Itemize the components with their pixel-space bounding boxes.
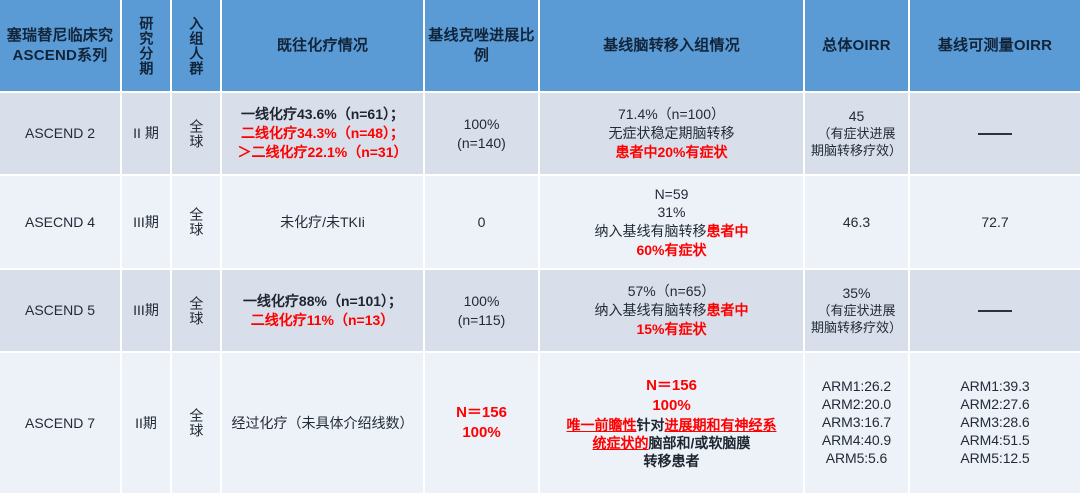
brain-line-4-black: 脑部和/或软脑膜 (649, 435, 751, 451)
table-row: ASCEND 7 II期 全球 经过化疗（未具体介绍线数） N＝156 100%… (0, 353, 1080, 495)
brain-line-3-red-underline: 唯一前瞻性 (567, 417, 637, 433)
brain-line-1: 71.4%（n=100） (544, 105, 799, 124)
brain-line-3: 纳入基线有脑转移患者中 (544, 222, 799, 241)
oirr-arm-3: ARM3:16.7 (809, 414, 904, 432)
cell-population: 全球 (172, 176, 222, 270)
em-dash-icon (978, 133, 1012, 135)
brain-line-3-black: 纳入基线有脑转移 (595, 223, 707, 239)
cell-overall-oirr: 35% （有症状进展 期脑转移疗效） (805, 270, 910, 353)
chemo-line-1: 一线化疗43.6%（n=61）； (226, 105, 419, 124)
table-row: ASECND 4 III期 全球 未化疗/未TKIi 0 N=59 31% 纳入… (0, 176, 1080, 270)
crizo-line-2: 100% (429, 423, 534, 443)
measurable-arm-1: ARM1:39.3 (914, 378, 1076, 396)
brain-line-1: N＝156 (544, 376, 799, 396)
cell-study-name: ASECND 4 (0, 176, 122, 270)
brain-line-3: 15%有症状 (544, 320, 799, 339)
oirr-note-1: （有症状进展 (809, 303, 904, 320)
oirr-value: 46.3 (809, 213, 904, 232)
crizo-line-1: N＝156 (429, 403, 534, 423)
cell-study-name: ASCEND 7 (0, 353, 122, 495)
brain-line-3-black: 针对 (637, 417, 665, 433)
oirr-arm-5: ARM5:5.6 (809, 450, 904, 468)
oirr-note-2: 期脑转移疗效） (809, 143, 904, 160)
oirr-note-1: （有症状进展 (809, 126, 904, 143)
cell-measurable-oirr: 72.7 (910, 176, 1080, 270)
brain-line-4-red-underline: 统症状的 (593, 435, 649, 451)
cell-measurable-oirr (910, 93, 1080, 176)
header-cell-brain-metastasis: 基线脑转移入组情况 (540, 0, 805, 93)
chemo-line-1: 经过化疗（未具体介绍线数） (226, 414, 419, 433)
cell-overall-oirr: ARM1:26.2 ARM2:20.0 ARM3:16.7 ARM4:40.9 … (805, 353, 910, 495)
cell-prior-chemo: 一线化疗43.6%（n=61）； 二线化疗34.3%（n=48）； ＞二线化疗2… (222, 93, 425, 176)
brain-line-2-red: 患者中 (707, 302, 749, 318)
chemo-line-3: ＞二线化疗22.1%（n=31） (226, 143, 419, 162)
header-cell-crizotinib-progression: 基线克唑进展比例 (425, 0, 540, 93)
crizo-line-1: 0 (429, 213, 534, 232)
brain-line-2: 无症状稳定期脑转移 (544, 124, 799, 143)
cell-crizotinib-progression: 100% (n=140) (425, 93, 540, 176)
crizo-line-2: (n=140) (429, 134, 534, 153)
oirr-arm-2: ARM2:20.0 (809, 396, 904, 414)
crizo-line-1: 100% (429, 292, 534, 311)
crizo-line-2: (n=115) (429, 311, 534, 330)
brain-line-5: 转移患者 (544, 452, 799, 470)
cell-overall-oirr: 45 （有症状进展 期脑转移疗效） (805, 93, 910, 176)
chemo-line-2: 二线化疗34.3%（n=48）； (226, 124, 419, 143)
table-row: ASCEND 2 II 期 全球 一线化疗43.6%（n=61）； 二线化疗34… (0, 93, 1080, 176)
cell-study-phase: III期 (122, 270, 172, 353)
measurable-arm-3: ARM3:28.6 (914, 414, 1076, 432)
brain-line-4: 60%有症状 (544, 241, 799, 260)
measurable-oirr-value: 72.7 (914, 213, 1076, 232)
brain-line-2: 31% (544, 203, 799, 222)
cell-study-name: ASCEND 5 (0, 270, 122, 353)
brain-line-2: 100% (544, 396, 799, 416)
brain-line-3: 唯一前瞻性针对进展期和有神经系 (544, 416, 799, 434)
cell-brain-metastasis: N=59 31% 纳入基线有脑转移患者中 60%有症状 (540, 176, 805, 270)
brain-line-2: 纳入基线有脑转移患者中 (544, 301, 799, 320)
oirr-value: 45 (809, 107, 904, 126)
measurable-arm-4: ARM4:51.5 (914, 432, 1076, 450)
cell-study-phase: II 期 (122, 93, 172, 176)
brain-line-2-black: 纳入基线有脑转移 (595, 302, 707, 318)
cell-study-name: ASCEND 2 (0, 93, 122, 176)
cell-measurable-oirr: ARM1:39.3 ARM2:27.6 ARM3:28.6 ARM4:51.5 … (910, 353, 1080, 495)
cell-brain-metastasis: N＝156 100% 唯一前瞻性针对进展期和有神经系 统症状的脑部和/或软脑膜 … (540, 353, 805, 495)
cell-study-phase: II期 (122, 353, 172, 495)
cell-crizotinib-progression: N＝156 100% (425, 353, 540, 495)
cell-population: 全球 (172, 93, 222, 176)
header-cell-measurable-oirr: 基线可测量OIRR (910, 0, 1080, 93)
cell-study-phase: III期 (122, 176, 172, 270)
oirr-arm-1: ARM1:26.2 (809, 378, 904, 396)
cell-brain-metastasis: 57%（n=65） 纳入基线有脑转移患者中 15%有症状 (540, 270, 805, 353)
oirr-value: 35% (809, 284, 904, 303)
header-cell-study: 塞瑞替尼临床究ASCEND系列 (0, 0, 122, 93)
chemo-line-2: 二线化疗11%（n=13） (226, 311, 419, 330)
cell-crizotinib-progression: 100% (n=115) (425, 270, 540, 353)
brain-line-1: N=59 (544, 185, 799, 204)
oirr-arm-4: ARM4:40.9 (809, 432, 904, 450)
crizo-line-1: 100% (429, 115, 534, 134)
table-row: ASCEND 5 III期 全球 一线化疗88%（n=101）； 二线化疗11%… (0, 270, 1080, 353)
cell-measurable-oirr (910, 270, 1080, 353)
cell-population: 全球 (172, 353, 222, 495)
chemo-line-1: 一线化疗88%（n=101）； (226, 292, 419, 311)
brain-line-4: 统症状的脑部和/或软脑膜 (544, 434, 799, 452)
em-dash-icon (978, 310, 1012, 312)
brain-line-3: 患者中20%有症状 (544, 143, 799, 162)
chemo-line-1: 未化疗/未TKIi (226, 213, 419, 232)
header-cell-overall-oirr: 总体OIRR (805, 0, 910, 93)
cell-prior-chemo: 经过化疗（未具体介绍线数） (222, 353, 425, 495)
brain-line-3-red: 患者中 (707, 223, 749, 239)
oirr-note-2: 期脑转移疗效） (809, 320, 904, 337)
header-cell-population: 入组人群 (172, 0, 222, 93)
header-cell-phase: 研究分期 (122, 0, 172, 93)
table-header-row: 塞瑞替尼临床究ASCEND系列 研究分期 入组人群 既往化疗情况 基线克唑进展比… (0, 0, 1080, 93)
cell-crizotinib-progression: 0 (425, 176, 540, 270)
brain-line-1: 57%（n=65） (544, 282, 799, 301)
cell-prior-chemo: 一线化疗88%（n=101）； 二线化疗11%（n=13） (222, 270, 425, 353)
cell-overall-oirr: 46.3 (805, 176, 910, 270)
brain-line-3-red-tail: 进展期和有神经系 (665, 417, 777, 433)
clinical-trials-table: 塞瑞替尼临床究ASCEND系列 研究分期 入组人群 既往化疗情况 基线克唑进展比… (0, 0, 1080, 495)
cell-brain-metastasis: 71.4%（n=100） 无症状稳定期脑转移 患者中20%有症状 (540, 93, 805, 176)
cell-population: 全球 (172, 270, 222, 353)
measurable-arm-5: ARM5:12.5 (914, 450, 1076, 468)
cell-prior-chemo: 未化疗/未TKIi (222, 176, 425, 270)
header-cell-prior-chemo: 既往化疗情况 (222, 0, 425, 93)
measurable-arm-2: ARM2:27.6 (914, 396, 1076, 414)
